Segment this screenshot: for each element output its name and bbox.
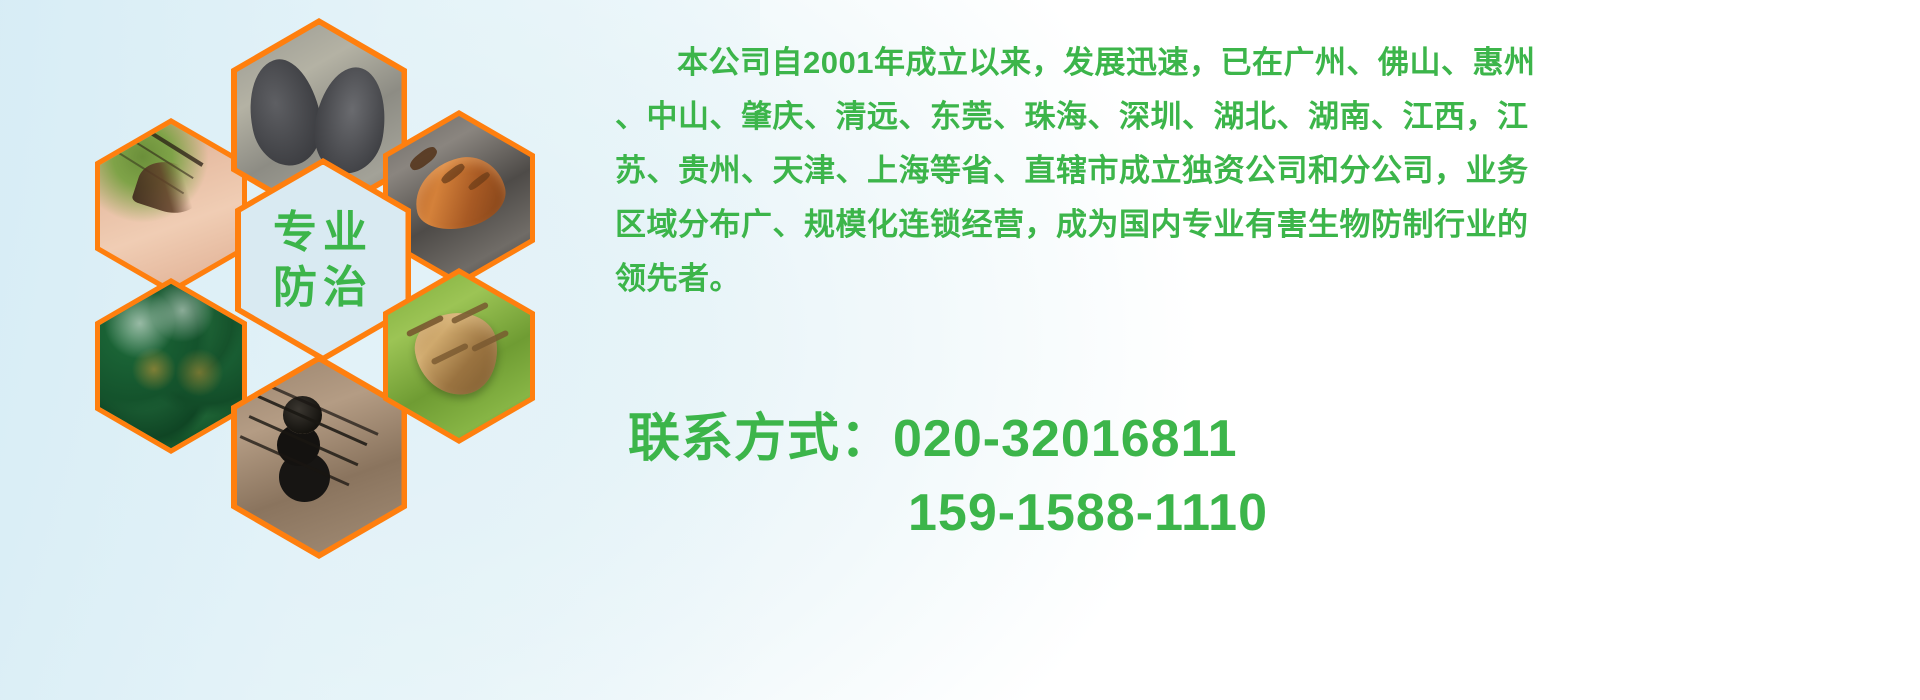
contact-phone-primary[interactable]: 联系方式：020-32016811 (620, 402, 1920, 476)
center-label-line1: 专业 (273, 205, 373, 260)
promo-banner: 专业 防治 本公司自2001年成立以来，发展迅速，已在广州、佛山、惠州 、中山、… (0, 0, 1920, 700)
description-line-5: 领先者。 (615, 252, 1915, 306)
hex-image-flies (100, 284, 242, 448)
description-line-4: 区域分布广、规模化连锁经营，成为国内专业有害生物防制行业的 (615, 198, 1915, 252)
description-line-1: 本公司自2001年成立以来，发展迅速，已在广州、佛山、惠州 (615, 36, 1915, 90)
description-line-3: 苏、贵州、天津、上海等省、直辖市成立独资公司和分公司，业务 (615, 144, 1915, 198)
fly-icon (100, 284, 242, 448)
mosquito-icon (100, 124, 242, 288)
hex-image-ant (237, 362, 402, 553)
honeycomb-cluster: 专业 防治 (95, 10, 585, 570)
ant-icon (237, 362, 402, 553)
hex-image-stink-bug (388, 274, 530, 438)
contact-block: 联系方式：020-32016811 159-1588-1110 (620, 402, 1920, 550)
center-label: 专业 防治 (273, 205, 373, 315)
hex-cell-ant (231, 355, 407, 559)
hex-cell-flies (95, 278, 247, 454)
stink-bug-icon (388, 274, 530, 438)
hex-center-panel: 专业 防治 (241, 165, 406, 356)
hex-cell-mosquito (95, 118, 247, 294)
contact-phone-secondary[interactable]: 159-1588-1110 (620, 476, 1920, 550)
company-description: 本公司自2001年成立以来，发展迅速，已在广州、佛山、惠州 、中山、肇庆、清远、… (615, 36, 1915, 306)
center-label-line2: 防治 (273, 260, 373, 315)
hex-image-mosquito (100, 124, 242, 288)
description-line-2: 、中山、肇庆、清远、东莞、珠海、深圳、湖北、湖南、江西，江 (615, 90, 1915, 144)
